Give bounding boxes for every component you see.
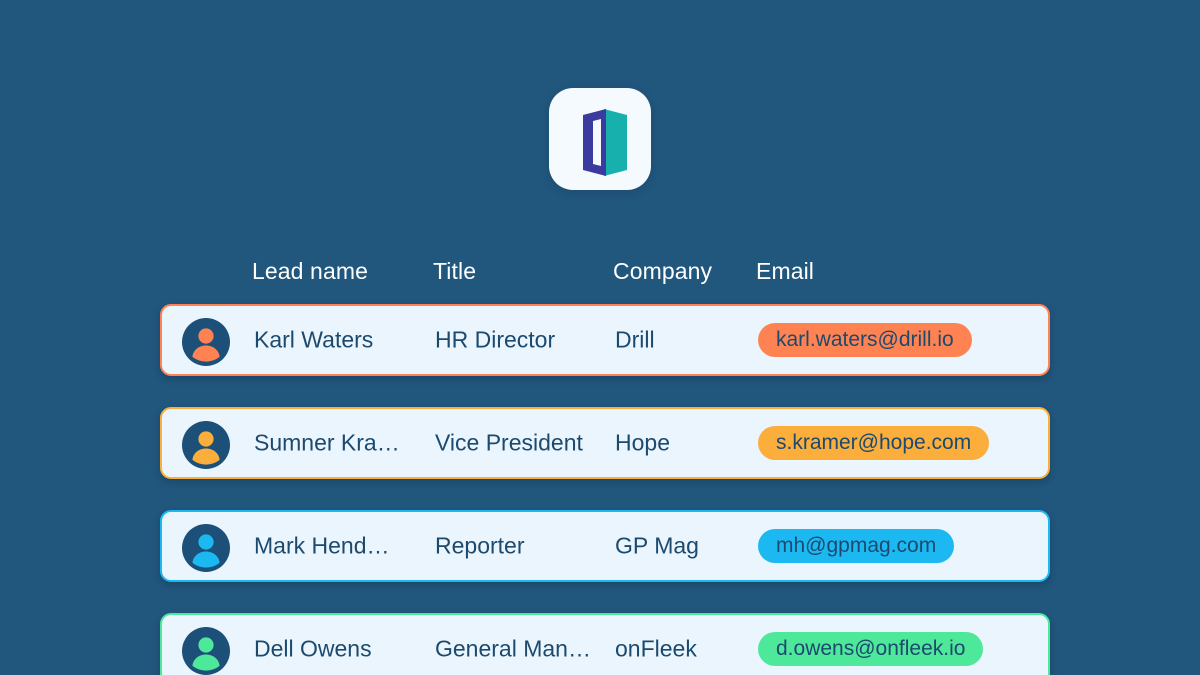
- cell-title: General Man…: [435, 636, 591, 663]
- email-pill[interactable]: karl.waters@drill.io: [758, 323, 972, 357]
- cell-company: Hope: [615, 430, 670, 457]
- email-pill[interactable]: mh@gpmag.com: [758, 529, 954, 563]
- column-header-lead-name: Lead name: [252, 258, 368, 285]
- person-icon: [182, 421, 230, 469]
- table-row[interactable]: Mark Hend…ReporterGP Magmh@gpmag.com: [160, 510, 1050, 582]
- lead-rows-list: Karl WatersHR DirectorDrillkarl.waters@d…: [160, 304, 1050, 675]
- email-pill[interactable]: d.owens@onfleek.io: [758, 632, 983, 666]
- cell-lead-name: Sumner Kra…: [254, 430, 400, 457]
- table-row[interactable]: Sumner Kra…Vice PresidentHopes.kramer@ho…: [160, 407, 1050, 479]
- cell-lead-name: Karl Waters: [254, 327, 373, 354]
- cell-lead-name: Mark Hend…: [254, 533, 389, 560]
- person-icon: [182, 627, 230, 675]
- avatar: [182, 627, 230, 675]
- cell-company: GP Mag: [615, 533, 699, 560]
- avatar: [182, 524, 230, 572]
- screen-root: Lead name Title Company Email Karl Water…: [0, 0, 1200, 675]
- table-row[interactable]: Karl WatersHR DirectorDrillkarl.waters@d…: [160, 304, 1050, 376]
- avatar: [182, 318, 230, 366]
- person-icon: [182, 318, 230, 366]
- cell-company: Drill: [615, 327, 655, 354]
- table-row[interactable]: Dell OwensGeneral Man…onFleekd.owens@onf…: [160, 613, 1050, 675]
- avatar: [182, 421, 230, 469]
- cell-title: Reporter: [435, 533, 524, 560]
- person-icon: [182, 524, 230, 572]
- table-header-row: Lead name Title Company Email: [160, 258, 1050, 296]
- cell-lead-name: Dell Owens: [254, 636, 372, 663]
- cell-title: Vice President: [435, 430, 583, 457]
- email-pill[interactable]: s.kramer@hope.com: [758, 426, 989, 460]
- column-header-company: Company: [613, 258, 712, 285]
- open-door-logo-icon: [549, 88, 651, 190]
- app-logo-tile: [549, 88, 651, 190]
- cell-title: HR Director: [435, 327, 555, 354]
- column-header-email: Email: [756, 258, 814, 285]
- cell-company: onFleek: [615, 636, 697, 663]
- column-header-title: Title: [433, 258, 476, 285]
